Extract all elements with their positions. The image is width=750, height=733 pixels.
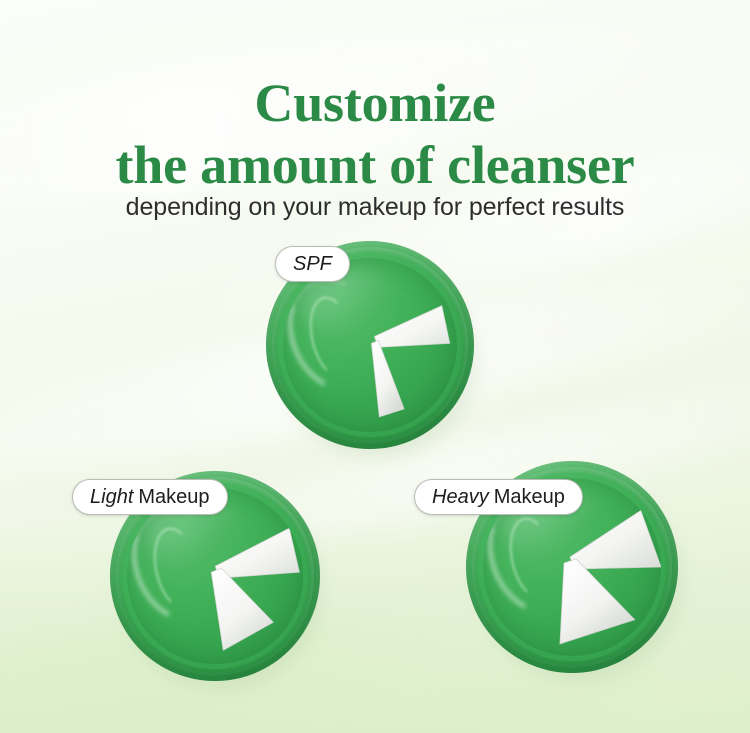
cleanser-wedge (211, 568, 273, 650)
cleanser-wedge (371, 340, 404, 416)
label-pill-heavy-makeup[interactable]: HeavyMakeup (414, 479, 583, 515)
jar-lid-face (283, 258, 458, 433)
label-plain: Makeup (494, 486, 565, 509)
label-emphasis: Heavy (432, 486, 489, 509)
promo-poster: Customize the amount of cleanser dependi… (0, 0, 750, 733)
cleanser-wedge (560, 559, 635, 644)
cleanser-wedge (215, 528, 299, 578)
headline: Customize the amount of cleanser (0, 72, 750, 196)
background-streak (325, 656, 750, 733)
headline-line-2: the amount of cleanser (0, 134, 750, 196)
label-plain: Makeup (138, 486, 209, 509)
label-pill-spf[interactable]: SPF (275, 246, 350, 282)
cleanser-wedges-spf (283, 258, 458, 433)
label-emphasis: SPF (293, 253, 332, 276)
label-emphasis: Light (90, 486, 133, 509)
cleanser-wedge (374, 305, 449, 347)
headline-line-1: Customize (0, 72, 750, 134)
subtitle: depending on your makeup for perfect res… (0, 193, 750, 222)
cleanser-wedge (570, 510, 661, 569)
label-pill-light-makeup[interactable]: LightMakeup (72, 479, 228, 515)
